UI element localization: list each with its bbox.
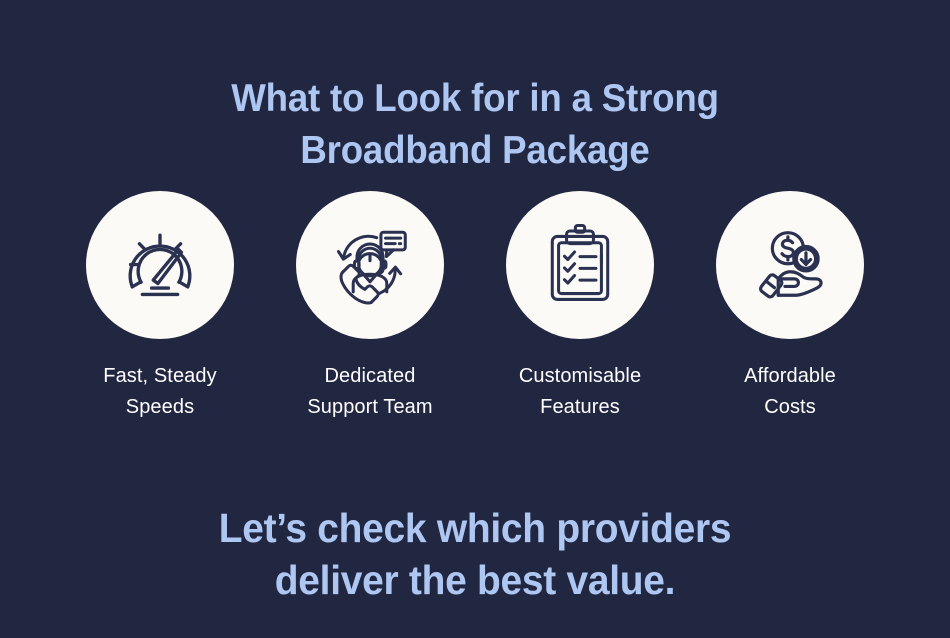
feature-icon-badge bbox=[716, 191, 864, 339]
feature-label: Customisable Features bbox=[519, 361, 641, 423]
feature-label: Affordable Costs bbox=[744, 361, 836, 423]
feature-list: Fast, Steady Speeds bbox=[60, 191, 890, 423]
feature-icon-badge bbox=[86, 191, 234, 339]
hand-holding-money-icon bbox=[748, 223, 832, 307]
feature-item-customisable-features: Customisable Features bbox=[480, 191, 680, 423]
support-agent-icon bbox=[328, 223, 412, 307]
feature-item-dedicated-support-team: Dedicated Support Team bbox=[270, 191, 470, 423]
page-title: What to Look for in a Strong Broadband P… bbox=[29, 73, 922, 177]
feature-icon-badge bbox=[506, 191, 654, 339]
speedometer-icon bbox=[118, 223, 202, 307]
feature-item-fast-steady-speeds: Fast, Steady Speeds bbox=[60, 191, 260, 423]
closing-statement: Let’s check which providers deliver the … bbox=[24, 502, 927, 606]
feature-label: Fast, Steady Speeds bbox=[103, 361, 216, 423]
clipboard-checklist-icon bbox=[538, 223, 622, 307]
feature-icon-badge bbox=[296, 191, 444, 339]
feature-label: Dedicated Support Team bbox=[307, 361, 432, 423]
feature-item-affordable-costs: Affordable Costs bbox=[690, 191, 890, 423]
infographic-poster: What to Look for in a Strong Broadband P… bbox=[0, 0, 950, 638]
